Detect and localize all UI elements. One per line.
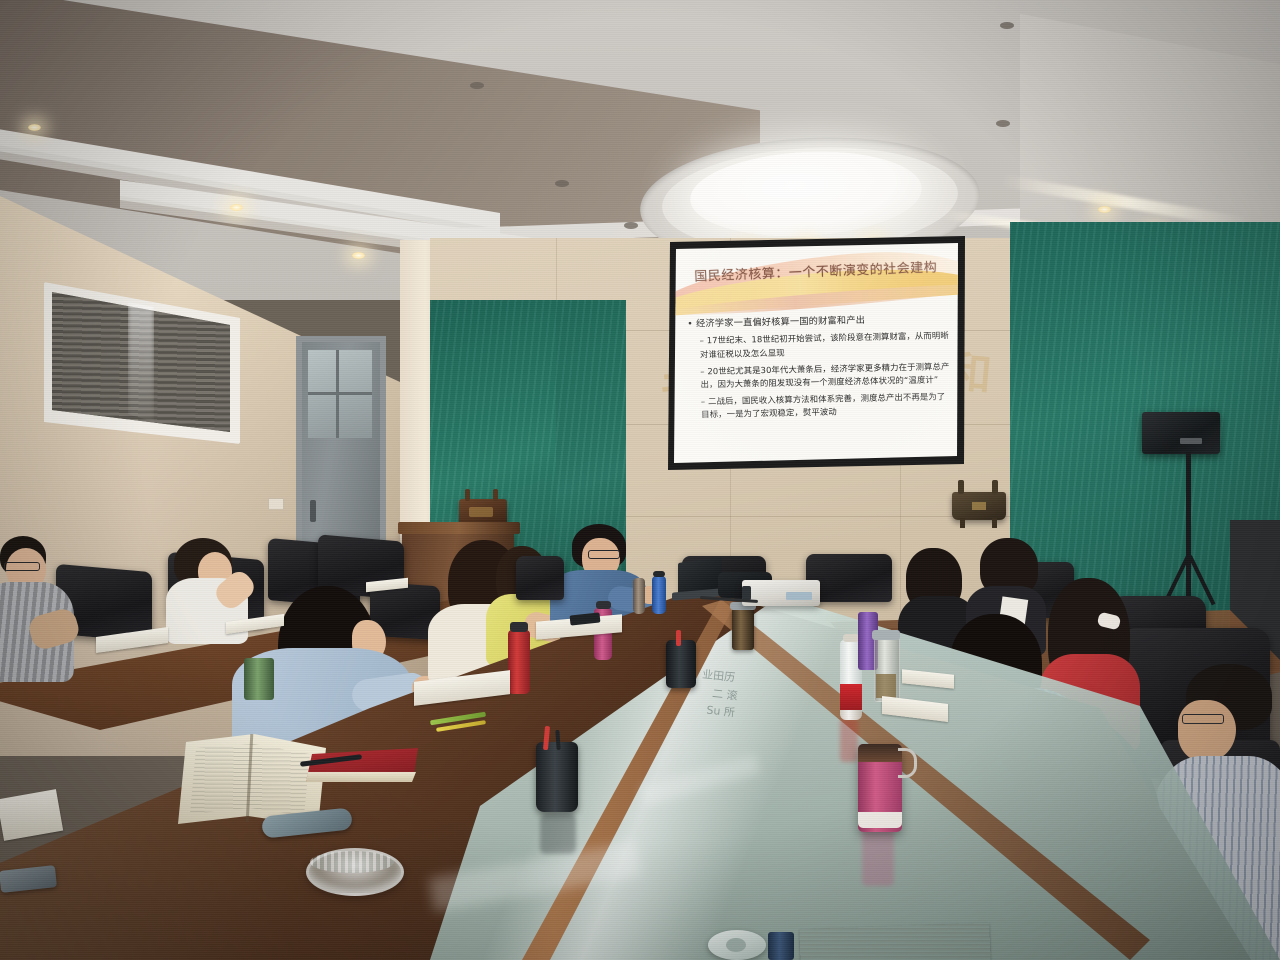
slide-body: • 经济学家一直偏好核算一国的财富和产出 – 17世纪末、18世纪初开始尝试，该… [687, 312, 951, 425]
downlight-8 [1098, 206, 1111, 213]
pa-speaker [1142, 412, 1220, 454]
downlight-2 [230, 204, 243, 211]
projector-lens [742, 586, 751, 600]
paper-bottom-left [0, 789, 63, 841]
glass-jar-tea [876, 674, 896, 698]
ceiling-speaker-3 [1000, 22, 1014, 29]
glass-jar-lid [872, 630, 900, 640]
blue-thermos[interactable] [652, 576, 666, 614]
slide-bullet-0: • 经济学家一直偏好核算一国的财富和产出 [687, 312, 949, 331]
red-thermos-cap [510, 622, 528, 632]
projector-control-panel[interactable] [786, 592, 812, 600]
window-glare [128, 302, 154, 422]
pink-thermos-band [858, 812, 902, 828]
water-bottle-label [840, 684, 862, 710]
reflection-bottle-red [840, 718, 858, 762]
red-thermos-bottle[interactable] [508, 630, 530, 694]
reflection-pen-holder [540, 814, 576, 854]
downlight-1 [28, 124, 41, 131]
pen-holder [536, 742, 578, 812]
reflection-thermos-pink [862, 826, 894, 886]
ceiling-speaker-4 [624, 222, 638, 229]
door-handle[interactable] [310, 500, 316, 522]
pink-thermos-lid [858, 744, 902, 762]
pink-thermos-handle[interactable] [898, 748, 917, 778]
person-p10-glasses [1182, 714, 1224, 724]
chair-center-3[interactable] [516, 556, 564, 600]
blue-cup-small[interactable] [768, 932, 794, 960]
door-mullion-h [308, 392, 372, 395]
projection-screen[interactable]: 国民经济核算：一个不断演变的社会建构 • 经济学家一直偏好核算一国的财富和产出 … [674, 243, 958, 463]
speaker-badge [1180, 438, 1202, 444]
red-notebook-pages [306, 772, 416, 782]
bronze-ding-ornament-right [946, 478, 1012, 526]
podium-top-surface [398, 522, 520, 534]
red-pen-2[interactable] [676, 630, 681, 646]
water-bottle-cap [843, 634, 859, 642]
pink-thermos-left-cap [596, 601, 611, 609]
glass-tea-cup[interactable] [732, 608, 754, 650]
ceiling-speaker-2 [996, 120, 1010, 127]
tape-dispenser-core [726, 938, 746, 952]
green-cup-left[interactable] [244, 658, 274, 700]
ceiling-speaker-1 [470, 82, 484, 89]
slide-bullet-1: – 17世纪末、18世纪初开始尝试，该阶段意在测算财富，从而明晰对谁征税以及怎么… [700, 330, 951, 362]
slide-bullet-2: – 20世纪尤其是30年代大萧条后，经济学家更多精力在于测算总产出，因为大萧条的… [700, 360, 951, 392]
ceiling-sensor [555, 180, 569, 187]
downlight-3 [352, 252, 365, 259]
person-p1-glasses [4, 562, 40, 571]
document-foreground [799, 923, 990, 960]
pen-holder-2 [666, 640, 696, 688]
blue-thermos-cap [653, 571, 665, 577]
ashtray-ridges [310, 851, 394, 873]
slide-bullet-3: – 二战后，国民收入核算方法和体系完善，测度总产出不再是为了目标，一是为了宏观稳… [701, 390, 952, 422]
person-p6-glasses [588, 550, 620, 559]
steel-thermos[interactable] [633, 578, 645, 614]
conference-room-photo: 书 和 国民经济核算：一个不断演变的社会建构 • 经济学家一直偏好核算一国的财富… [0, 0, 1280, 960]
wall-socket[interactable] [268, 498, 284, 510]
